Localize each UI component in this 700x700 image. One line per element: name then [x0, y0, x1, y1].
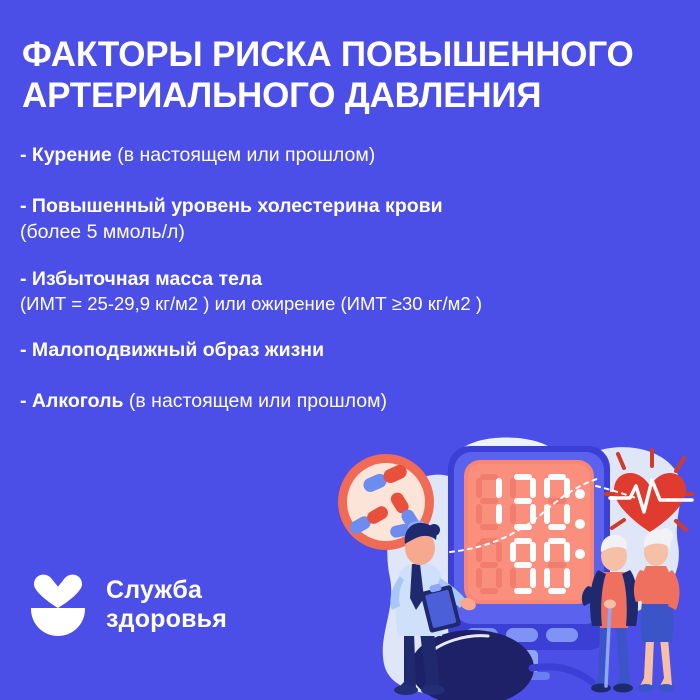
- risk-term: Малоподвижный образ жизни: [32, 339, 324, 361]
- risk-detail: (в настоящем или прошлом): [123, 390, 386, 412]
- risk-detail: (в настоящем или прошлом): [112, 144, 375, 166]
- risk-item-smoking: - Курение (в настоящем или прошлом): [20, 143, 690, 168]
- heart-icon: [32, 574, 84, 608]
- risk-factor-list: - Курение (в настоящем или прошлом) - По…: [20, 143, 690, 430]
- brand-logo: Служба здоровья: [28, 572, 227, 638]
- risk-term: Курение: [32, 144, 112, 166]
- risk-dash: -: [20, 390, 27, 412]
- smile-arc-icon: [31, 608, 85, 636]
- risk-dash: -: [20, 195, 27, 217]
- infographic-poster: ФАКТОРЫ РИСКА ПОВЫШЕННОГО АРТЕРИАЛЬНОГО …: [0, 0, 700, 700]
- risk-term: Алкоголь: [32, 390, 124, 412]
- risk-dash: -: [20, 144, 27, 166]
- brand-name: Служба здоровья: [106, 576, 227, 634]
- risk-dash: -: [20, 339, 27, 361]
- risk-subtext: (ИМТ = 25-29,9 кг/м2 ) или ожирение (ИМТ…: [20, 292, 690, 316]
- risk-item-sedentary: - Малоподвижный образ жизни: [20, 338, 690, 363]
- risk-term: Повышенный уровень холестерина крови: [32, 195, 443, 217]
- risk-subtext: (более 5 ммоль/л): [20, 220, 690, 245]
- page-title: ФАКТОРЫ РИСКА ПОВЫШЕННОГО АРТЕРИАЛЬНОГО …: [22, 34, 682, 117]
- title-line-1: ФАКТОРЫ РИСКА ПОВЫШЕННОГО: [22, 34, 682, 75]
- illustration-svg: [300, 420, 700, 700]
- brand-line-1: Служба: [106, 576, 227, 605]
- risk-dash: -: [20, 268, 27, 290]
- blood-pressure-monitor-scene: [300, 420, 700, 700]
- brand-line-2: здоровья: [106, 605, 227, 634]
- risk-term: Избыточная масса тела: [32, 268, 262, 290]
- risk-item-overweight: - Избыточная масса тела (ИМТ = 25-29,9 к…: [20, 267, 690, 316]
- title-line-2: АРТЕРИАЛЬНОГО ДАВЛЕНИЯ: [22, 75, 682, 116]
- risk-item-alcohol: - Алкоголь (в настоящем или прошлом): [20, 389, 690, 414]
- risk-item-cholesterol: - Повышенный уровень холестерина крови (…: [20, 194, 690, 245]
- heart-smile-logo-icon: [28, 572, 88, 638]
- monitor-screen-inner: [468, 464, 590, 600]
